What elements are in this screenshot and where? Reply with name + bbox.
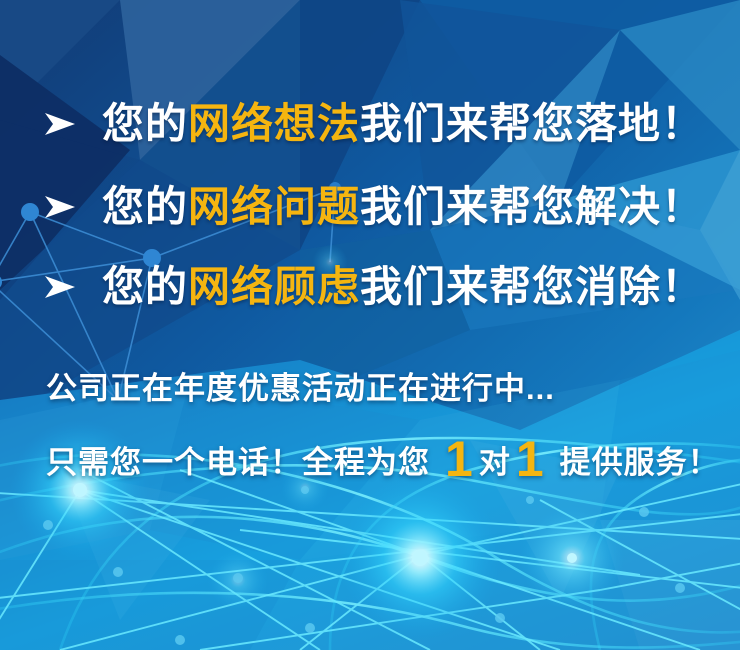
bullet-text-1: 您的网络想法我们来帮您落地！ — [102, 103, 704, 145]
bullet-text-2: 您的网络问题我们来帮您解决！ — [102, 186, 704, 228]
bullet-suffix-3: 我们来帮您消除！ — [360, 263, 704, 310]
service-ratio-number-2: 1 — [511, 437, 550, 482]
subtext-line2-part2: 提供服务！ — [560, 437, 720, 482]
arrow-right-icon — [40, 104, 80, 144]
promo-subtext-line2: 只需您一个电话！全程为您 1 对 1 提供服务！ — [46, 434, 720, 482]
bullet-accent-2: 网络问题 — [188, 183, 360, 230]
bullet-text-3: 您的网络顾虑我们来帮您消除！ — [102, 266, 704, 308]
bullet-accent-1: 网络想法 — [188, 100, 360, 147]
bullet-accent-3: 网络顾虑 — [188, 263, 360, 310]
bullet-suffix-1: 我们来帮您落地！ — [360, 100, 704, 147]
subtext-line2-mid: 对 — [479, 437, 511, 482]
service-ratio-number-1: 1 — [440, 437, 479, 482]
subtext-line2-part1: 只需您一个电话！全程为您 — [46, 437, 430, 482]
bullet-prefix-1: 您的 — [102, 100, 188, 147]
bullet-row-3: 您的网络顾虑我们来帮您消除！ — [40, 266, 704, 308]
arrow-right-icon — [40, 187, 80, 227]
bullet-prefix-3: 您的 — [102, 263, 188, 310]
arrow-right-icon — [40, 267, 80, 307]
bullet-prefix-2: 您的 — [102, 183, 188, 230]
banner-content: 您的网络想法我们来帮您落地！ 您的网络问题我们来帮您解决！ 您的网络顾虑我们来帮… — [0, 0, 740, 650]
bullet-suffix-2: 我们来帮您解决！ — [360, 183, 704, 230]
promo-banner: 您的网络想法我们来帮您落地！ 您的网络问题我们来帮您解决！ 您的网络顾虑我们来帮… — [0, 0, 740, 650]
bullet-row-2: 您的网络问题我们来帮您解决！ — [40, 186, 704, 228]
promo-subtext-line1: 公司正在年度优惠活动正在进行中... — [46, 363, 555, 408]
bullet-row-1: 您的网络想法我们来帮您落地！ — [40, 103, 704, 145]
